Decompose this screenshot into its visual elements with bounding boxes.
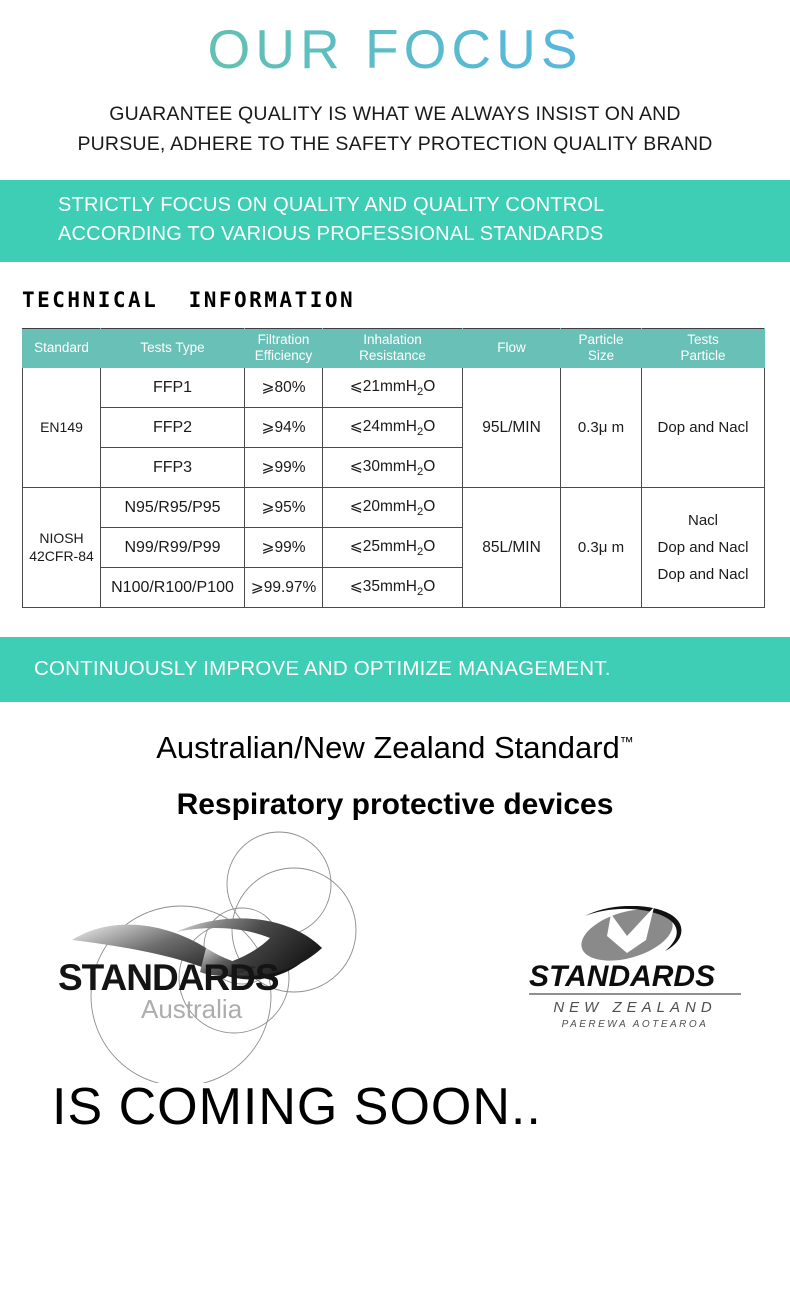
inhalation-value: ⩽21mmH	[350, 378, 417, 395]
cell-particle-size: 0.3μ m	[561, 488, 642, 608]
page-title: OUR FOCUS	[0, 22, 790, 77]
column-header-tests-particle-line-1: Tests	[687, 332, 719, 347]
inhalation-unit-suffix: O	[423, 498, 435, 515]
column-header-standard: Standard	[23, 329, 101, 368]
table-header-row: Standard Tests Type Filtration Efficienc…	[23, 329, 765, 368]
column-header-inhalation-resistance-line-2: Resistance	[359, 348, 426, 363]
cell-tests-type: FFP3	[101, 448, 245, 488]
table-row: EN149 FFP1 ⩾80% ⩽21mmH2O 95L/MIN 0.3μ m …	[23, 368, 765, 408]
standards-nz-wordmark: STANDARDS	[529, 960, 715, 993]
cell-inhalation-resistance: ⩽21mmH2O	[323, 368, 463, 408]
column-header-filtration-efficiency: Filtration Efficiency	[245, 329, 323, 368]
cell-tests-type: N100/R100/P100	[101, 568, 245, 608]
cell-tests-particle-stack: Nacl Dop and Nacl Dop and Nacl	[642, 488, 765, 608]
column-header-tests-particle: Tests Particle	[642, 329, 765, 368]
inhalation-value: ⩽25mmH	[350, 538, 417, 555]
standards-australia-wordmark: STANDARDS	[58, 957, 279, 998]
cell-filtration-efficiency: ⩾94%	[245, 408, 323, 448]
cell-filtration-efficiency: ⩾99%	[245, 448, 323, 488]
cell-inhalation-resistance: ⩽25mmH2O	[323, 528, 463, 568]
table-header: Standard Tests Type Filtration Efficienc…	[23, 329, 765, 368]
inhalation-unit-suffix: O	[423, 458, 435, 475]
cell-tests-type: N95/R95/P95	[101, 488, 245, 528]
anz-standard-title-text: Australian/New Zealand Standard	[156, 730, 620, 765]
cell-standard-niosh-line-1: NIOSH	[39, 530, 83, 546]
column-header-tests-type: Tests Type	[101, 329, 245, 368]
hero-subtitle-line-2: PURSUE, ADHERE TO THE SAFETY PROTECTION …	[35, 129, 755, 159]
standards-australia-subword: Australia	[141, 994, 243, 1024]
standards-australia-logo: STANDARDS Australia	[56, 828, 376, 1083]
trademark-symbol: ™	[620, 734, 634, 750]
standards-new-zealand-logo: STANDARDS NEW ZEALAND PAEREWA AOTEAROA	[515, 906, 755, 1031]
cell-filtration-efficiency: ⩾99%	[245, 528, 323, 568]
column-header-particle-size: Particle Size	[561, 329, 642, 368]
column-header-particle-size-line-1: Particle	[578, 332, 623, 347]
technical-information-table: Standard Tests Type Filtration Efficienc…	[22, 328, 765, 608]
column-header-flow: Flow	[463, 329, 561, 368]
tests-particle-item: Dop and Nacl	[642, 534, 764, 561]
quality-focus-banner-line-2: ACCORDING TO VARIOUS PROFESSIONAL STANDA…	[58, 220, 790, 249]
cell-inhalation-resistance: ⩽24mmH2O	[323, 408, 463, 448]
column-header-inhalation-resistance-line-1: Inhalation	[363, 332, 422, 347]
cell-inhalation-resistance: ⩽35mmH2O	[323, 568, 463, 608]
standards-nz-subword-maori: PAEREWA AOTEAROA	[562, 1019, 709, 1030]
continuous-improvement-banner: CONTINUOUSLY IMPROVE AND OPTIMIZE MANAGE…	[0, 637, 790, 702]
tests-particle-item: Nacl	[642, 507, 764, 534]
table-row: NIOSH 42CFR-84 N95/R95/P95 ⩾95% ⩽20mmH2O…	[23, 488, 765, 528]
cell-filtration-efficiency: ⩾80%	[245, 368, 323, 408]
quality-focus-banner-line-1: STRICTLY FOCUS ON QUALITY AND QUALITY CO…	[58, 191, 790, 220]
cell-inhalation-resistance: ⩽20mmH2O	[323, 488, 463, 528]
column-header-inhalation-resistance: Inhalation Resistance	[323, 329, 463, 368]
logo-row: STANDARDS Australia STANDARDS NEW ZEALAN…	[0, 828, 790, 1083]
inhalation-unit-suffix: O	[423, 378, 435, 395]
anz-standard-subtitle: Respiratory protective devices	[0, 788, 790, 822]
cell-inhalation-resistance: ⩽30mmH2O	[323, 448, 463, 488]
column-header-filtration-efficiency-line-1: Filtration	[258, 332, 310, 347]
table-body: EN149 FFP1 ⩾80% ⩽21mmH2O 95L/MIN 0.3μ m …	[23, 368, 765, 608]
inhalation-value: ⩽24mmH	[350, 418, 417, 435]
cell-tests-particle: Dop and Nacl	[642, 368, 765, 488]
cell-standard-niosh-line-2: 42CFR-84	[29, 548, 94, 564]
column-header-particle-size-line-2: Size	[588, 348, 614, 363]
column-header-tests-particle-line-2: Particle	[680, 348, 725, 363]
hero-subtitle: GUARANTEE QUALITY IS WHAT WE ALWAYS INSI…	[35, 99, 755, 159]
cell-flow: 95L/MIN	[463, 368, 561, 488]
cell-flow: 85L/MIN	[463, 488, 561, 608]
cell-filtration-efficiency: ⩾99.97%	[245, 568, 323, 608]
standards-nz-subword: NEW ZEALAND	[553, 999, 716, 1016]
inhalation-value: ⩽35mmH	[350, 578, 417, 595]
cell-tests-type: FFP2	[101, 408, 245, 448]
hero-subtitle-line-1: GUARANTEE QUALITY IS WHAT WE ALWAYS INSI…	[35, 99, 755, 129]
technical-information-heading: TECHNICAL INFORMATION	[22, 288, 790, 312]
cell-particle-size: 0.3μ m	[561, 368, 642, 488]
inhalation-value: ⩽20mmH	[350, 498, 417, 515]
inhalation-value: ⩽30mmH	[350, 458, 417, 475]
quality-focus-banner: STRICTLY FOCUS ON QUALITY AND QUALITY CO…	[0, 180, 790, 262]
tests-particle-item: Dop and Nacl	[642, 561, 764, 588]
technical-information-table-wrapper: Standard Tests Type Filtration Efficienc…	[22, 328, 763, 608]
anz-standard-title: Australian/New Zealand Standard™	[0, 730, 790, 766]
cell-tests-type: FFP1	[101, 368, 245, 408]
inhalation-unit-suffix: O	[423, 418, 435, 435]
cell-standard-niosh: NIOSH 42CFR-84	[23, 488, 101, 608]
cell-tests-type: N99/R99/P99	[101, 528, 245, 568]
cell-standard-en149: EN149	[23, 368, 101, 488]
inhalation-unit-suffix: O	[423, 578, 435, 595]
coming-soon-text: IS COMING SOON..	[0, 1077, 790, 1137]
inhalation-unit-suffix: O	[423, 538, 435, 555]
column-header-filtration-efficiency-line-2: Efficiency	[255, 348, 313, 363]
cell-filtration-efficiency: ⩾95%	[245, 488, 323, 528]
